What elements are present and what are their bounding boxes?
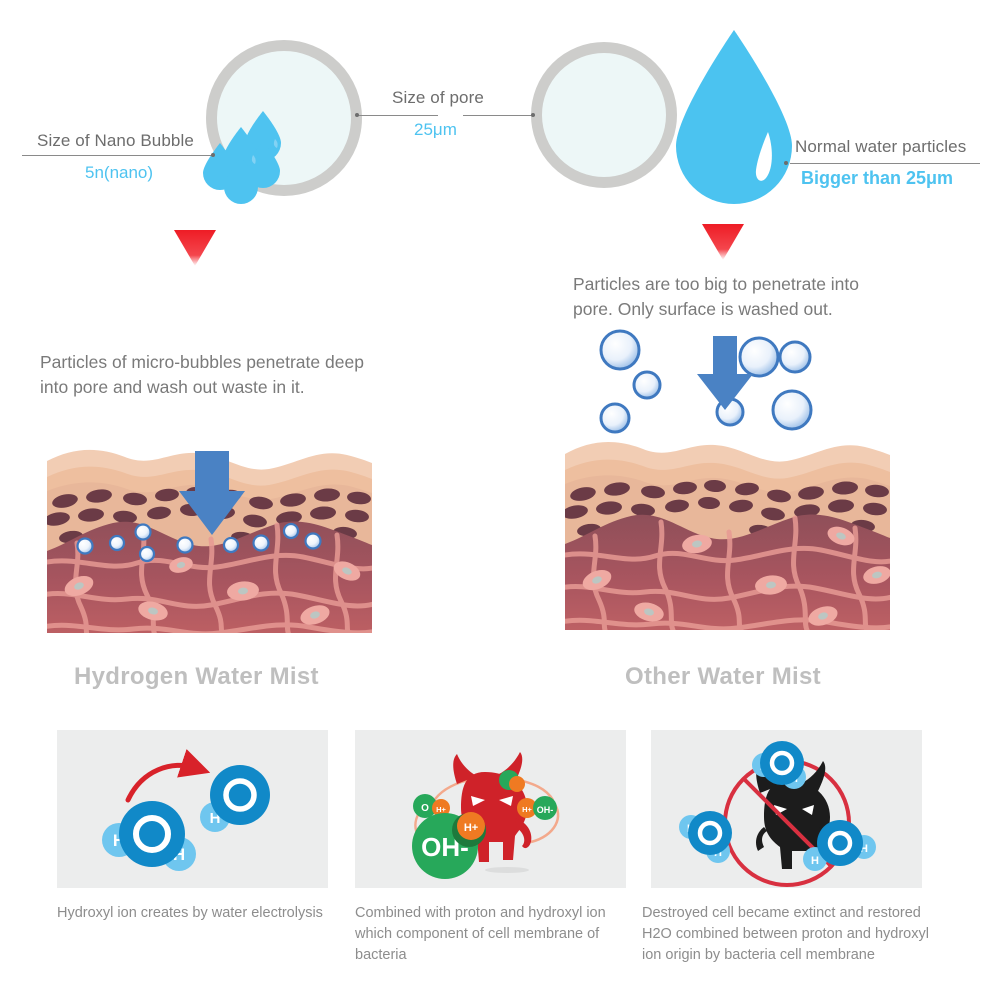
normal-water-label: Normal water particles (795, 137, 966, 157)
normal-water-leader-dot (784, 161, 788, 165)
panel-1-caption-line-1: Hydroxyl ion creates by water electrolys… (57, 903, 342, 924)
normal-pore-circle (531, 42, 677, 188)
ion-pair-right: H+ OH- (517, 796, 557, 820)
panel-3-caption-line-3: ion origin by bacteria cell membrane (642, 945, 942, 966)
nano-bubble-value: 5n(nano) (85, 163, 153, 183)
left-explanation-line1: Particles of micro-bubbles penetrate dee… (40, 352, 364, 372)
panel-2-caption-line-1: Combined with proton and hydroxyl ion (355, 903, 630, 924)
svg-text:H: H (811, 855, 819, 867)
skin-cross-section-left (47, 443, 372, 633)
blue-arrow-right-icon (695, 336, 755, 412)
svg-text:OH-: OH- (537, 805, 554, 815)
hydroxyl-creation-illustration: H H H (72, 742, 316, 878)
pore-size-label: Size of pore (392, 88, 484, 108)
svg-text:H+: H+ (436, 805, 446, 814)
right-explanation-line1: Particles are too big to penetrate into (573, 274, 859, 294)
pore-leader-dot-right (531, 113, 535, 117)
normal-water-value: Bigger than 25μm (801, 168, 953, 189)
red-arrow-right-icon (700, 222, 746, 262)
bacteria-attack-illustration: O H+ H+ OH- OH- H+ (365, 738, 617, 882)
h2o-molecule-left: H H (679, 811, 732, 863)
oh-molecule: H (200, 765, 270, 832)
svg-text:H+: H+ (464, 822, 478, 834)
panel-2-caption-line-2: which component of cell membrane of (355, 924, 630, 945)
pore-leader-line-right (463, 115, 535, 116)
svg-text:O: O (421, 803, 429, 814)
pore-size-value: 25μm (414, 120, 457, 140)
left-explanation-text: Particles of micro-bubbles penetrate dee… (40, 350, 440, 400)
panel-2-caption: Combined with proton and hydroxyl ionwhi… (355, 903, 630, 966)
panel-3-caption-line-2: H2O combined between proton and hydroxyl (642, 924, 942, 945)
nano-bubble-leader-line (22, 155, 214, 156)
right-explanation-text: Particles are too big to penetrate into … (573, 272, 973, 322)
pore-leader-dot-left (355, 113, 359, 117)
red-arrow-left-icon (172, 228, 218, 268)
nano-bubble-droplets-icon (205, 105, 315, 200)
skin-cross-section-right (565, 430, 890, 630)
left-section-caption: Hydrogen Water Mist (74, 663, 319, 691)
panel-2-caption-line-3: bacteria (355, 945, 630, 966)
nano-bubble-leader-dot (211, 153, 215, 157)
h2o-molecule: H H (102, 801, 196, 871)
normal-water-leader-line (790, 163, 980, 164)
nano-bubble-label: Size of Nano Bubble (37, 131, 194, 151)
bacteria-destroyed-illustration: H H H H H H (656, 735, 918, 885)
svg-text:H+: H+ (522, 805, 532, 814)
right-explanation-line2: pore. Only surface is washed out. (573, 299, 833, 319)
panel-1-caption: Hydroxyl ion creates by water electrolys… (57, 903, 342, 924)
left-explanation-line2: into pore and wash out waste in it. (40, 377, 305, 397)
pore-leader-line-left (358, 115, 438, 116)
panel-3-caption-line-1: Destroyed cell became extinct and restor… (642, 903, 942, 924)
right-section-caption: Other Water Mist (625, 663, 821, 691)
water-droplet-icon (672, 28, 796, 196)
panel-3-caption: Destroyed cell became extinct and restor… (642, 903, 942, 966)
infographic-root: Size of Nano Bubble 5n(nano) Size of por… (0, 0, 1000, 1000)
